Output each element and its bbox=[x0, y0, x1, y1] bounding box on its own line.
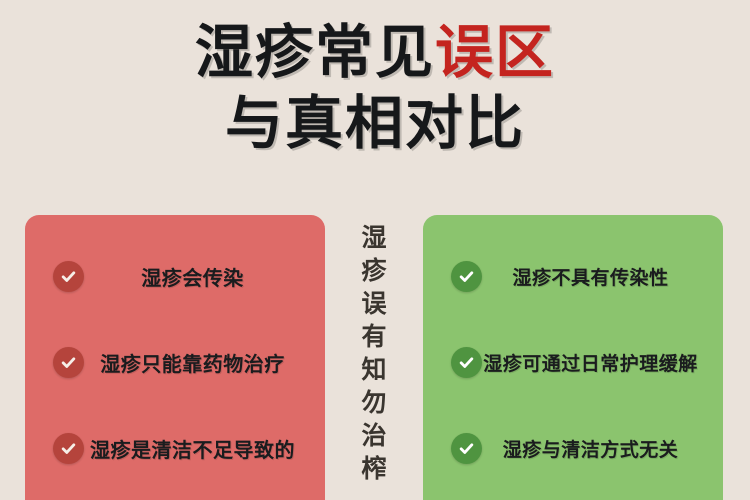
fact-item-1-label: 湿疹不具有传染性 bbox=[482, 263, 709, 290]
myth-item-3[interactable]: 湿疹是清洁不足导致的 bbox=[39, 405, 311, 491]
vertical-caption-char-2: 疹 bbox=[361, 255, 386, 288]
vertical-caption-char-7: 治 bbox=[361, 420, 386, 453]
check-icon bbox=[451, 261, 482, 292]
vertical-caption-char-6: 勿 bbox=[361, 387, 386, 420]
poster-canvas: 湿疹常见误区 与真相对比 湿疹会传染 湿疹只能靠药物治疗 bbox=[0, 0, 750, 500]
vertical-caption: 湿 疹 误 有 知 勿 治 榨 bbox=[352, 222, 396, 500]
myth-item-3-label: 湿疹是清洁不足导致的 bbox=[84, 434, 311, 463]
myth-item-1[interactable]: 湿疹会传染 bbox=[39, 233, 311, 319]
check-icon bbox=[53, 261, 84, 292]
vertical-caption-char-5: 知 bbox=[361, 354, 386, 387]
myth-item-2-label: 湿疹只能靠药物治疗 bbox=[84, 348, 311, 377]
fact-item-2[interactable]: 湿疹可通过日常护理缓解 bbox=[437, 319, 709, 405]
myth-item-2[interactable]: 湿疹只能靠药物治疗 bbox=[39, 319, 311, 405]
title-line-2: 与真相对比 bbox=[0, 93, 750, 156]
title-line-1: 湿疹常见误区 bbox=[0, 22, 750, 85]
title-line-1-prefix: 湿疹常见 bbox=[195, 20, 435, 85]
myth-item-1-label: 湿疹会传染 bbox=[84, 262, 311, 291]
check-icon bbox=[451, 433, 482, 464]
fact-item-3-label: 湿疹与清洁方式无关 bbox=[482, 435, 709, 462]
myths-panel: 湿疹会传染 湿疹只能靠药物治疗 湿疹是清洁不足导致的 bbox=[25, 215, 325, 500]
fact-item-2-label: 湿疹可通过日常护理缓解 bbox=[482, 349, 709, 376]
check-icon bbox=[451, 347, 482, 378]
facts-panel: 湿疹不具有传染性 湿疹可通过日常护理缓解 湿疹与清洁方式无关 bbox=[423, 215, 723, 500]
fact-item-3[interactable]: 湿疹与清洁方式无关 bbox=[437, 405, 709, 491]
title-line-1-accent: 误区 bbox=[435, 20, 555, 85]
vertical-caption-char-8: 榨 bbox=[361, 453, 386, 486]
vertical-caption-char-1: 湿 bbox=[361, 222, 386, 255]
fact-item-1[interactable]: 湿疹不具有传染性 bbox=[437, 233, 709, 319]
vertical-caption-char-4: 有 bbox=[361, 321, 386, 354]
poster-title: 湿疹常见误区 与真相对比 bbox=[0, 22, 750, 155]
check-icon bbox=[53, 347, 84, 378]
vertical-caption-char-3: 误 bbox=[361, 288, 386, 321]
check-icon bbox=[53, 433, 84, 464]
